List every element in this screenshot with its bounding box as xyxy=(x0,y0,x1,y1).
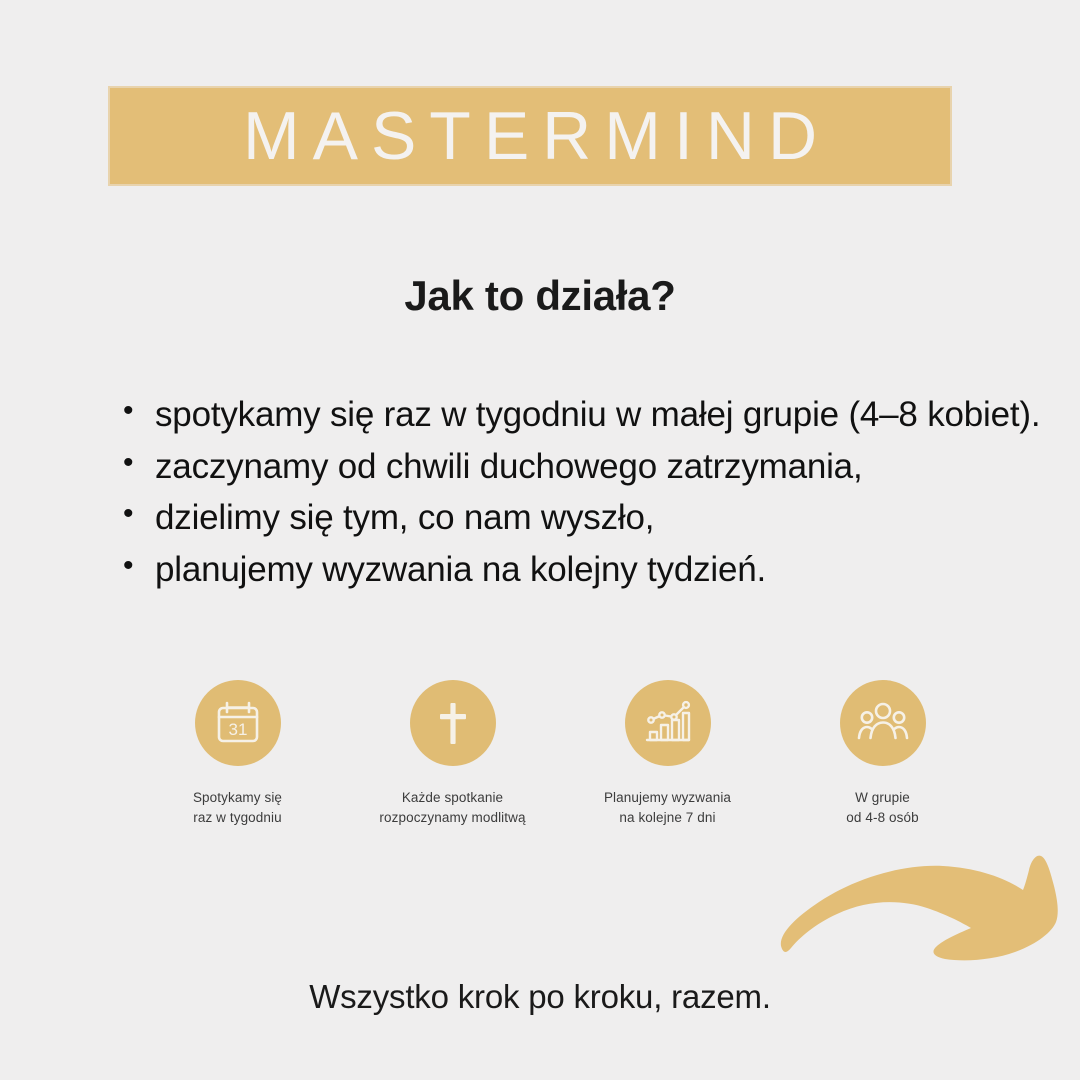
group-people-icon xyxy=(840,680,926,766)
feature-prayer: Każde spotkanie rozpoczynamy modlitwą xyxy=(345,680,560,829)
feature-weekly-challenges: Planujemy wyzwania na kolejne 7 dni xyxy=(560,680,775,829)
how-it-works-list: spotykamy się raz w tygodniu w małej gru… xyxy=(118,392,1048,598)
feature-caption: Spotykamy się raz w tygodniu xyxy=(193,788,282,829)
feature-weekly-meeting: 31 Spotykamy się raz w tygodniu xyxy=(130,680,345,829)
banner-title: MASTERMIND xyxy=(230,102,830,170)
footer-tagline: Wszystko krok po kroku, razem. xyxy=(0,978,1080,1016)
calendar-day-number: 31 xyxy=(228,720,247,739)
mastermind-banner: MASTERMIND xyxy=(108,86,952,186)
list-item: spotykamy się raz w tygodniu w małej gru… xyxy=(118,392,1048,438)
feature-caption: Każde spotkanie rozpoczynamy modlitwą xyxy=(379,788,525,829)
page-title: Jak to działa? xyxy=(0,272,1080,320)
feature-caption: W grupie od 4-8 osób xyxy=(846,788,918,829)
feature-group-size: W grupie od 4-8 osób xyxy=(775,680,990,829)
calendar-icon: 31 xyxy=(195,680,281,766)
mastermind-slide: MASTERMIND Jak to działa? spotykamy się … xyxy=(0,0,1080,1080)
curved-arrow-right-icon xyxy=(775,848,1060,963)
bar-chart-trend-icon xyxy=(625,680,711,766)
feature-caption: Planujemy wyzwania na kolejne 7 dni xyxy=(604,788,731,829)
list-item: planujemy wyzwania na kolejny tydzień. xyxy=(118,547,1048,593)
list-item: dzielimy się tym, co nam wyszło, xyxy=(118,495,1048,541)
cross-icon xyxy=(410,680,496,766)
feature-icon-row: 31 Spotykamy się raz w tygodniu Każde sp… xyxy=(130,680,990,829)
list-item: zaczynamy od chwili duchowego zatrzymani… xyxy=(118,444,1048,490)
